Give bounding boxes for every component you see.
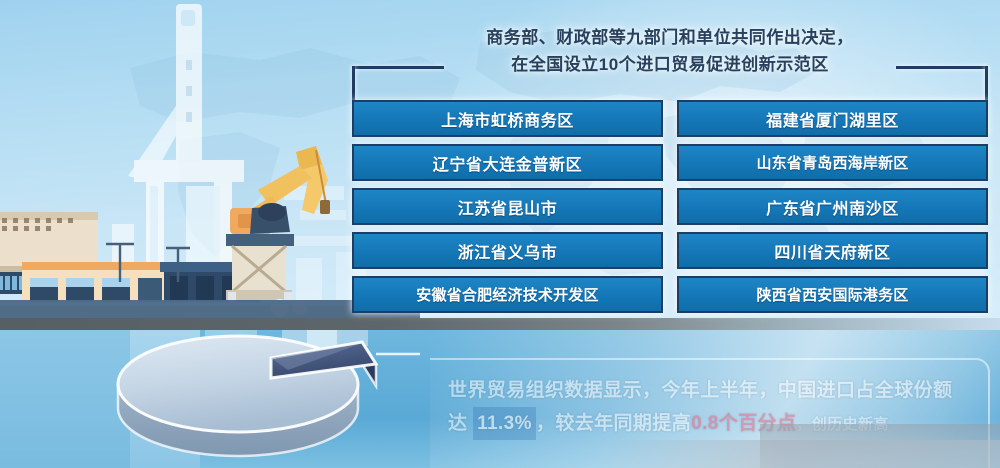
page-title: 商务部、财政部等九部门和单位共同作出决定， 在全国设立10个进口贸易促进创新示范… <box>350 24 990 78</box>
zone-item-shanghai[interactable]: 上海市虹桥商务区 <box>352 100 663 137</box>
dock-band <box>0 318 1000 330</box>
zone-label: 福建省厦门湖里区 <box>766 107 899 131</box>
zone-item-guangdong[interactable]: 广东省广州南沙区 <box>677 188 988 225</box>
caption-middle: ，较去年同期提高 <box>536 413 691 434</box>
zone-item-fujian[interactable]: 福建省厦门湖里区 <box>677 100 988 137</box>
zone-label: 陕西省西安国际港务区 <box>756 284 908 305</box>
zone-item-jiangsu[interactable]: 江苏省昆山市 <box>352 188 663 225</box>
zone-item-shaanxi[interactable]: 陕西省西安国际港务区 <box>677 276 988 313</box>
caption-line-1: 世界贸易组织数据显示，今年上半年，中国进口占全球份额 <box>448 380 952 401</box>
pie-chart <box>108 332 438 468</box>
zone-label: 上海市虹桥商务区 <box>441 107 574 131</box>
bottom-fade-strip-secondary <box>596 440 1000 468</box>
zone-item-sichuan[interactable]: 四川省天府新区 <box>677 232 988 269</box>
terminal-building-icon <box>22 262 164 302</box>
zone-label: 浙江省义乌市 <box>458 239 558 263</box>
infographic-canvas: 商务部、财政部等九部门和单位共同作出决定， 在全国设立10个进口贸易促进创新示范… <box>0 0 1000 468</box>
zone-label: 四川省天府新区 <box>774 239 890 263</box>
headline-line-2: 在全国设立10个进口贸易促进创新示范区 <box>350 51 990 78</box>
zone-item-anhui[interactable]: 安徽省合肥经济技术开发区 <box>352 276 663 313</box>
zone-item-liaoning[interactable]: 辽宁省大连金普新区 <box>352 144 663 181</box>
zone-label: 山东省青岛西海岸新区 <box>756 152 908 173</box>
zone-list: 上海市虹桥商务区 福建省厦门湖里区 辽宁省大连金普新区 山东省青岛西海岸新区 江… <box>352 100 988 313</box>
zone-label: 江苏省昆山市 <box>458 195 558 219</box>
zone-item-shandong[interactable]: 山东省青岛西海岸新区 <box>677 144 988 181</box>
caption-prefix: 达 <box>448 413 473 434</box>
zone-item-zhejiang[interactable]: 浙江省义乌市 <box>352 232 663 269</box>
zone-label: 广东省广州南沙区 <box>766 195 899 219</box>
zone-label: 安徽省合肥经济技术开发区 <box>416 284 598 305</box>
headline-line-1: 商务部、财政部等九部门和单位共同作出决定， <box>486 28 854 47</box>
zone-label: 辽宁省大连金普新区 <box>433 151 582 175</box>
caption-stat-share: 11.3% <box>473 407 536 440</box>
